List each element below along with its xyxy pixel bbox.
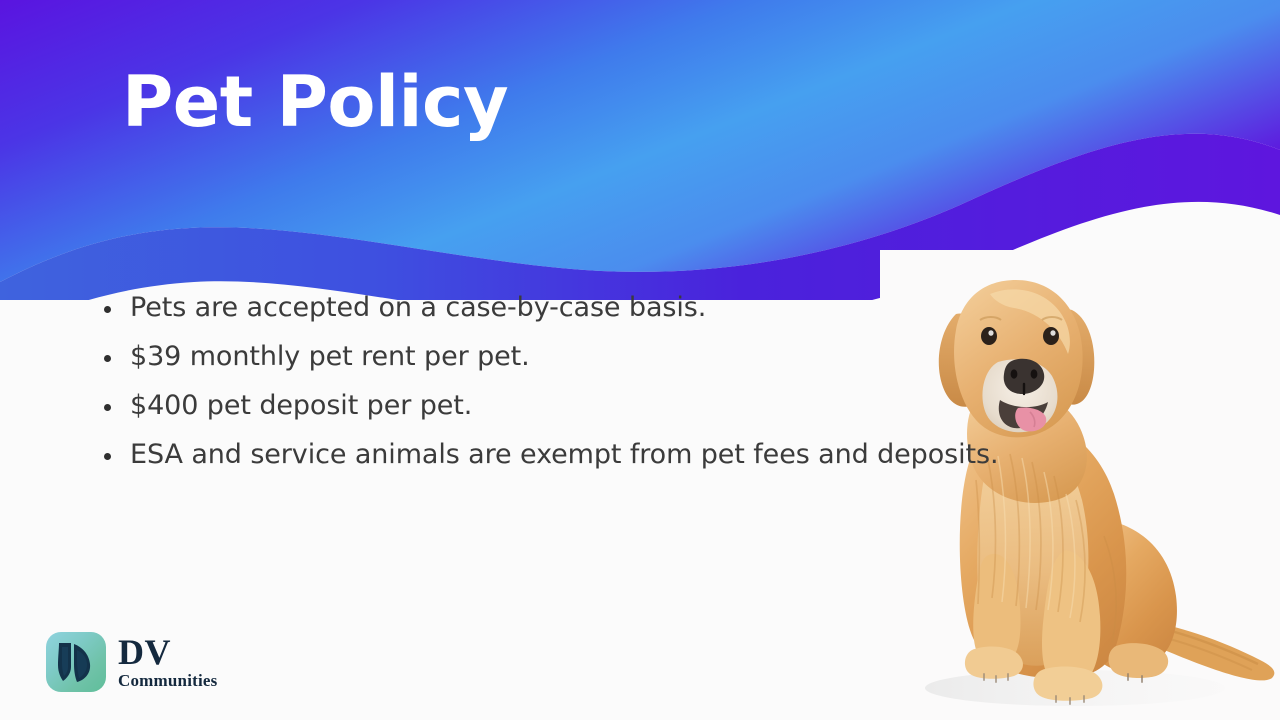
list-item: ESA and service animals are exempt from … [98,433,1028,477]
dog-eye-right [1043,327,1059,345]
logo-subtitle: Communities [118,672,217,689]
list-item: Pets are accepted on a case-by-case basi… [98,286,1028,330]
bullet-list: Pets are accepted on a case-by-case basi… [98,286,1028,482]
page-title: Pet Policy [122,66,508,140]
logo-wordmark: DV Communities [118,635,217,689]
shield-leaf-icon [46,632,106,692]
list-item: $39 monthly pet rent per pet. [98,335,1028,379]
dog-paw-right [1033,667,1102,701]
dog-paw-left [965,647,1023,679]
brand-logo: DV Communities [46,632,217,692]
list-item: $400 pet deposit per pet. [98,384,1028,428]
logo-name: DV [118,635,217,670]
slide-canvas: Pet Policy Pets are accepted on a case-b… [0,0,1280,720]
